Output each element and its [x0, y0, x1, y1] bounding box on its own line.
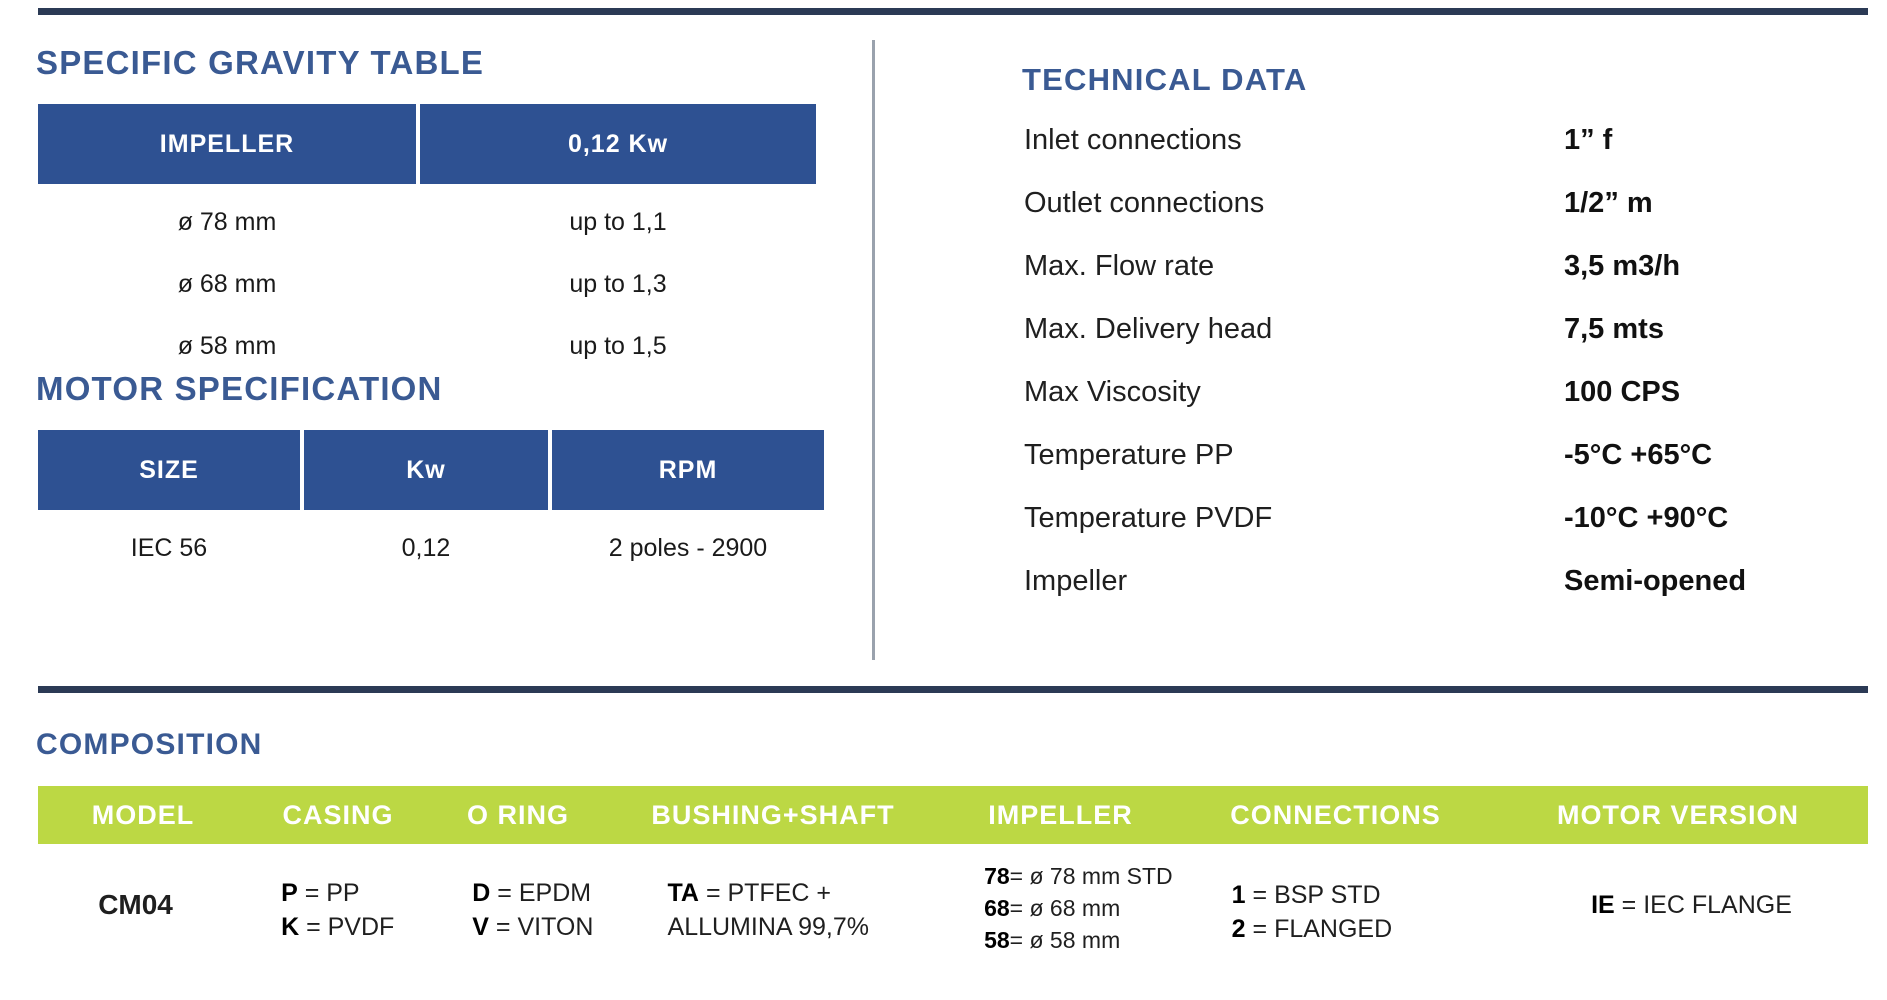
list-item: V = VITON — [472, 910, 639, 944]
casing-desc: = PVDF — [299, 913, 394, 941]
specific-gravity-cell-impeller: ø 78 mm — [38, 196, 416, 249]
composition-motor-version-options: IE = IEC FLANGE — [1515, 852, 1868, 922]
motor-specification-title: MOTOR SPECIFICATION — [36, 370, 443, 408]
motor-version-desc: = IEC FLANGE — [1615, 891, 1792, 919]
motor-spec-cell-size: IEC 56 — [38, 522, 300, 575]
technical-data-row: Impeller Semi-opened — [1024, 565, 1864, 628]
technical-data-value: Semi-opened — [1564, 565, 1746, 598]
composition-bushing-shaft-options: TA = PTFEC + ALLUMINA 99,7% — [640, 852, 975, 944]
technical-data-label: Temperature PVDF — [1024, 502, 1564, 535]
impeller-code: 78 — [984, 863, 1010, 889]
technical-data-row: Inlet connections 1” f — [1024, 124, 1864, 187]
technical-data-row: Max. Delivery head 7,5 mts — [1024, 313, 1864, 376]
technical-data-value: 3,5 m3/h — [1564, 250, 1680, 283]
table-row: ø 68 mm up to 1,3 — [38, 258, 816, 311]
motor-version-code: IE — [1591, 891, 1615, 919]
technical-data-value: 1/2” m — [1564, 187, 1653, 220]
specific-gravity-header-kw: 0,12 Kw — [420, 104, 816, 184]
technical-data-label: Impeller — [1024, 565, 1564, 598]
connection-code: 2 — [1232, 915, 1246, 943]
composition-title: COMPOSITION — [36, 728, 263, 762]
o-ring-desc: = EPDM — [490, 879, 591, 907]
bushing-desc: = PTFEC + — [699, 879, 831, 907]
table-row: ø 78 mm up to 1,1 — [38, 196, 816, 249]
motor-spec-header-size: SIZE — [38, 430, 300, 510]
composition-header-o-ring: O RING — [428, 800, 608, 831]
o-ring-desc: = VITON — [489, 913, 593, 941]
specific-gravity-cell-value: up to 1,1 — [420, 196, 816, 249]
casing-code: K — [281, 913, 299, 941]
list-item: D = EPDM — [472, 876, 639, 910]
motor-spec-header-rpm: RPM — [552, 430, 824, 510]
composition-header-bushing-shaft: BUSHING+SHAFT — [608, 800, 938, 831]
impeller-code: 68 — [984, 895, 1010, 921]
technical-data-title: TECHNICAL DATA — [1022, 62, 1307, 98]
table-row: ø 58 mm up to 1,5 — [38, 320, 816, 373]
technical-data-list: Inlet connections 1” f Outlet connection… — [1024, 124, 1864, 628]
technical-data-label: Max Viscosity — [1024, 376, 1564, 409]
specific-gravity-cell-value: up to 1,5 — [420, 320, 816, 373]
top-divider-rule — [38, 8, 1868, 15]
composition-o-ring-options: D = EPDM V = VITON — [448, 852, 639, 944]
motor-spec-cell-rpm: 2 poles - 2900 — [552, 522, 824, 575]
o-ring-code: D — [472, 879, 490, 907]
technical-data-value: -10°C +90°C — [1564, 502, 1728, 535]
technical-data-row: Max. Flow rate 3,5 m3/h — [1024, 250, 1864, 313]
technical-data-row: Temperature PP -5°C +65°C — [1024, 439, 1864, 502]
specific-gravity-header-impeller: IMPELLER — [38, 104, 416, 184]
list-item: TA = PTFEC + — [668, 876, 975, 910]
table-row: IEC 56 0,12 2 poles - 2900 — [38, 522, 824, 575]
technical-data-label: Max. Delivery head — [1024, 313, 1564, 346]
list-item: IE = IEC FLANGE — [1515, 888, 1868, 922]
middle-divider-rule — [38, 686, 1868, 693]
composition-model-value: CM04 — [38, 852, 233, 922]
technical-data-label: Temperature PP — [1024, 439, 1564, 472]
motor-spec-cell-kw: 0,12 — [304, 522, 548, 575]
list-item: 68= ø 68 mm — [984, 892, 1212, 924]
technical-data-row: Max Viscosity 100 CPS — [1024, 376, 1864, 439]
technical-data-label: Outlet connections — [1024, 187, 1564, 220]
specific-gravity-cell-impeller: ø 68 mm — [38, 258, 416, 311]
casing-desc: = PP — [298, 879, 360, 907]
list-item: K = PVDF — [281, 910, 448, 944]
technical-data-value: -5°C +65°C — [1564, 439, 1712, 472]
bushing-code: TA — [668, 879, 699, 907]
composition-header-casing: CASING — [248, 800, 428, 831]
connection-desc: = BSP STD — [1246, 881, 1381, 909]
composition-header-motor-version: MOTOR VERSION — [1488, 800, 1868, 831]
motor-specification-header-row: SIZE Kw RPM — [38, 430, 824, 510]
technical-data-value: 7,5 mts — [1564, 313, 1664, 346]
technical-data-label: Inlet connections — [1024, 124, 1564, 157]
list-item: 58= ø 58 mm — [984, 924, 1212, 956]
specific-gravity-title: SPECIFIC GRAVITY TABLE — [36, 44, 484, 82]
bushing-desc-cont: ALLUMINA 99,7% — [668, 913, 870, 941]
composition-header-model: MODEL — [38, 800, 248, 831]
connection-desc: = FLANGED — [1246, 915, 1393, 943]
casing-code: P — [281, 879, 298, 907]
composition-connections-options: 1 = BSP STD 2 = FLANGED — [1212, 852, 1515, 946]
technical-data-label: Max. Flow rate — [1024, 250, 1564, 283]
list-item: 2 = FLANGED — [1232, 912, 1515, 946]
impeller-desc: = ø 78 mm STD — [1010, 863, 1173, 889]
specific-gravity-cell-impeller: ø 58 mm — [38, 320, 416, 373]
composition-casing-options: P = PP K = PVDF — [233, 852, 448, 944]
connection-code: 1 — [1232, 881, 1246, 909]
o-ring-code: V — [472, 913, 489, 941]
composition-header-row: MODEL CASING O RING BUSHING+SHAFT IMPELL… — [38, 786, 1868, 844]
composition-header-connections: CONNECTIONS — [1183, 800, 1488, 831]
specific-gravity-header-row: IMPELLER 0,12 Kw — [38, 104, 816, 184]
list-item: P = PP — [281, 876, 448, 910]
technical-data-value: 1” f — [1564, 124, 1612, 157]
list-item: ALLUMINA 99,7% — [668, 910, 975, 944]
impeller-code: 58 — [984, 927, 1010, 953]
technical-data-value: 100 CPS — [1564, 376, 1680, 409]
specific-gravity-cell-value: up to 1,3 — [420, 258, 816, 311]
technical-data-row: Outlet connections 1/2” m — [1024, 187, 1864, 250]
list-item: 1 = BSP STD — [1232, 878, 1515, 912]
vertical-divider-rule — [872, 40, 875, 660]
composition-header-impeller: IMPELLER — [938, 800, 1183, 831]
impeller-desc: = ø 68 mm — [1010, 895, 1121, 921]
composition-body-row: CM04 P = PP K = PVDF D = EPDM V = VITON … — [38, 852, 1868, 992]
impeller-desc: = ø 58 mm — [1010, 927, 1121, 953]
motor-spec-header-kw: Kw — [304, 430, 548, 510]
technical-data-row: Temperature PVDF -10°C +90°C — [1024, 502, 1864, 565]
composition-impeller-options: 78= ø 78 mm STD 68= ø 68 mm 58= ø 58 mm — [974, 852, 1212, 956]
list-item: 78= ø 78 mm STD — [984, 860, 1212, 892]
